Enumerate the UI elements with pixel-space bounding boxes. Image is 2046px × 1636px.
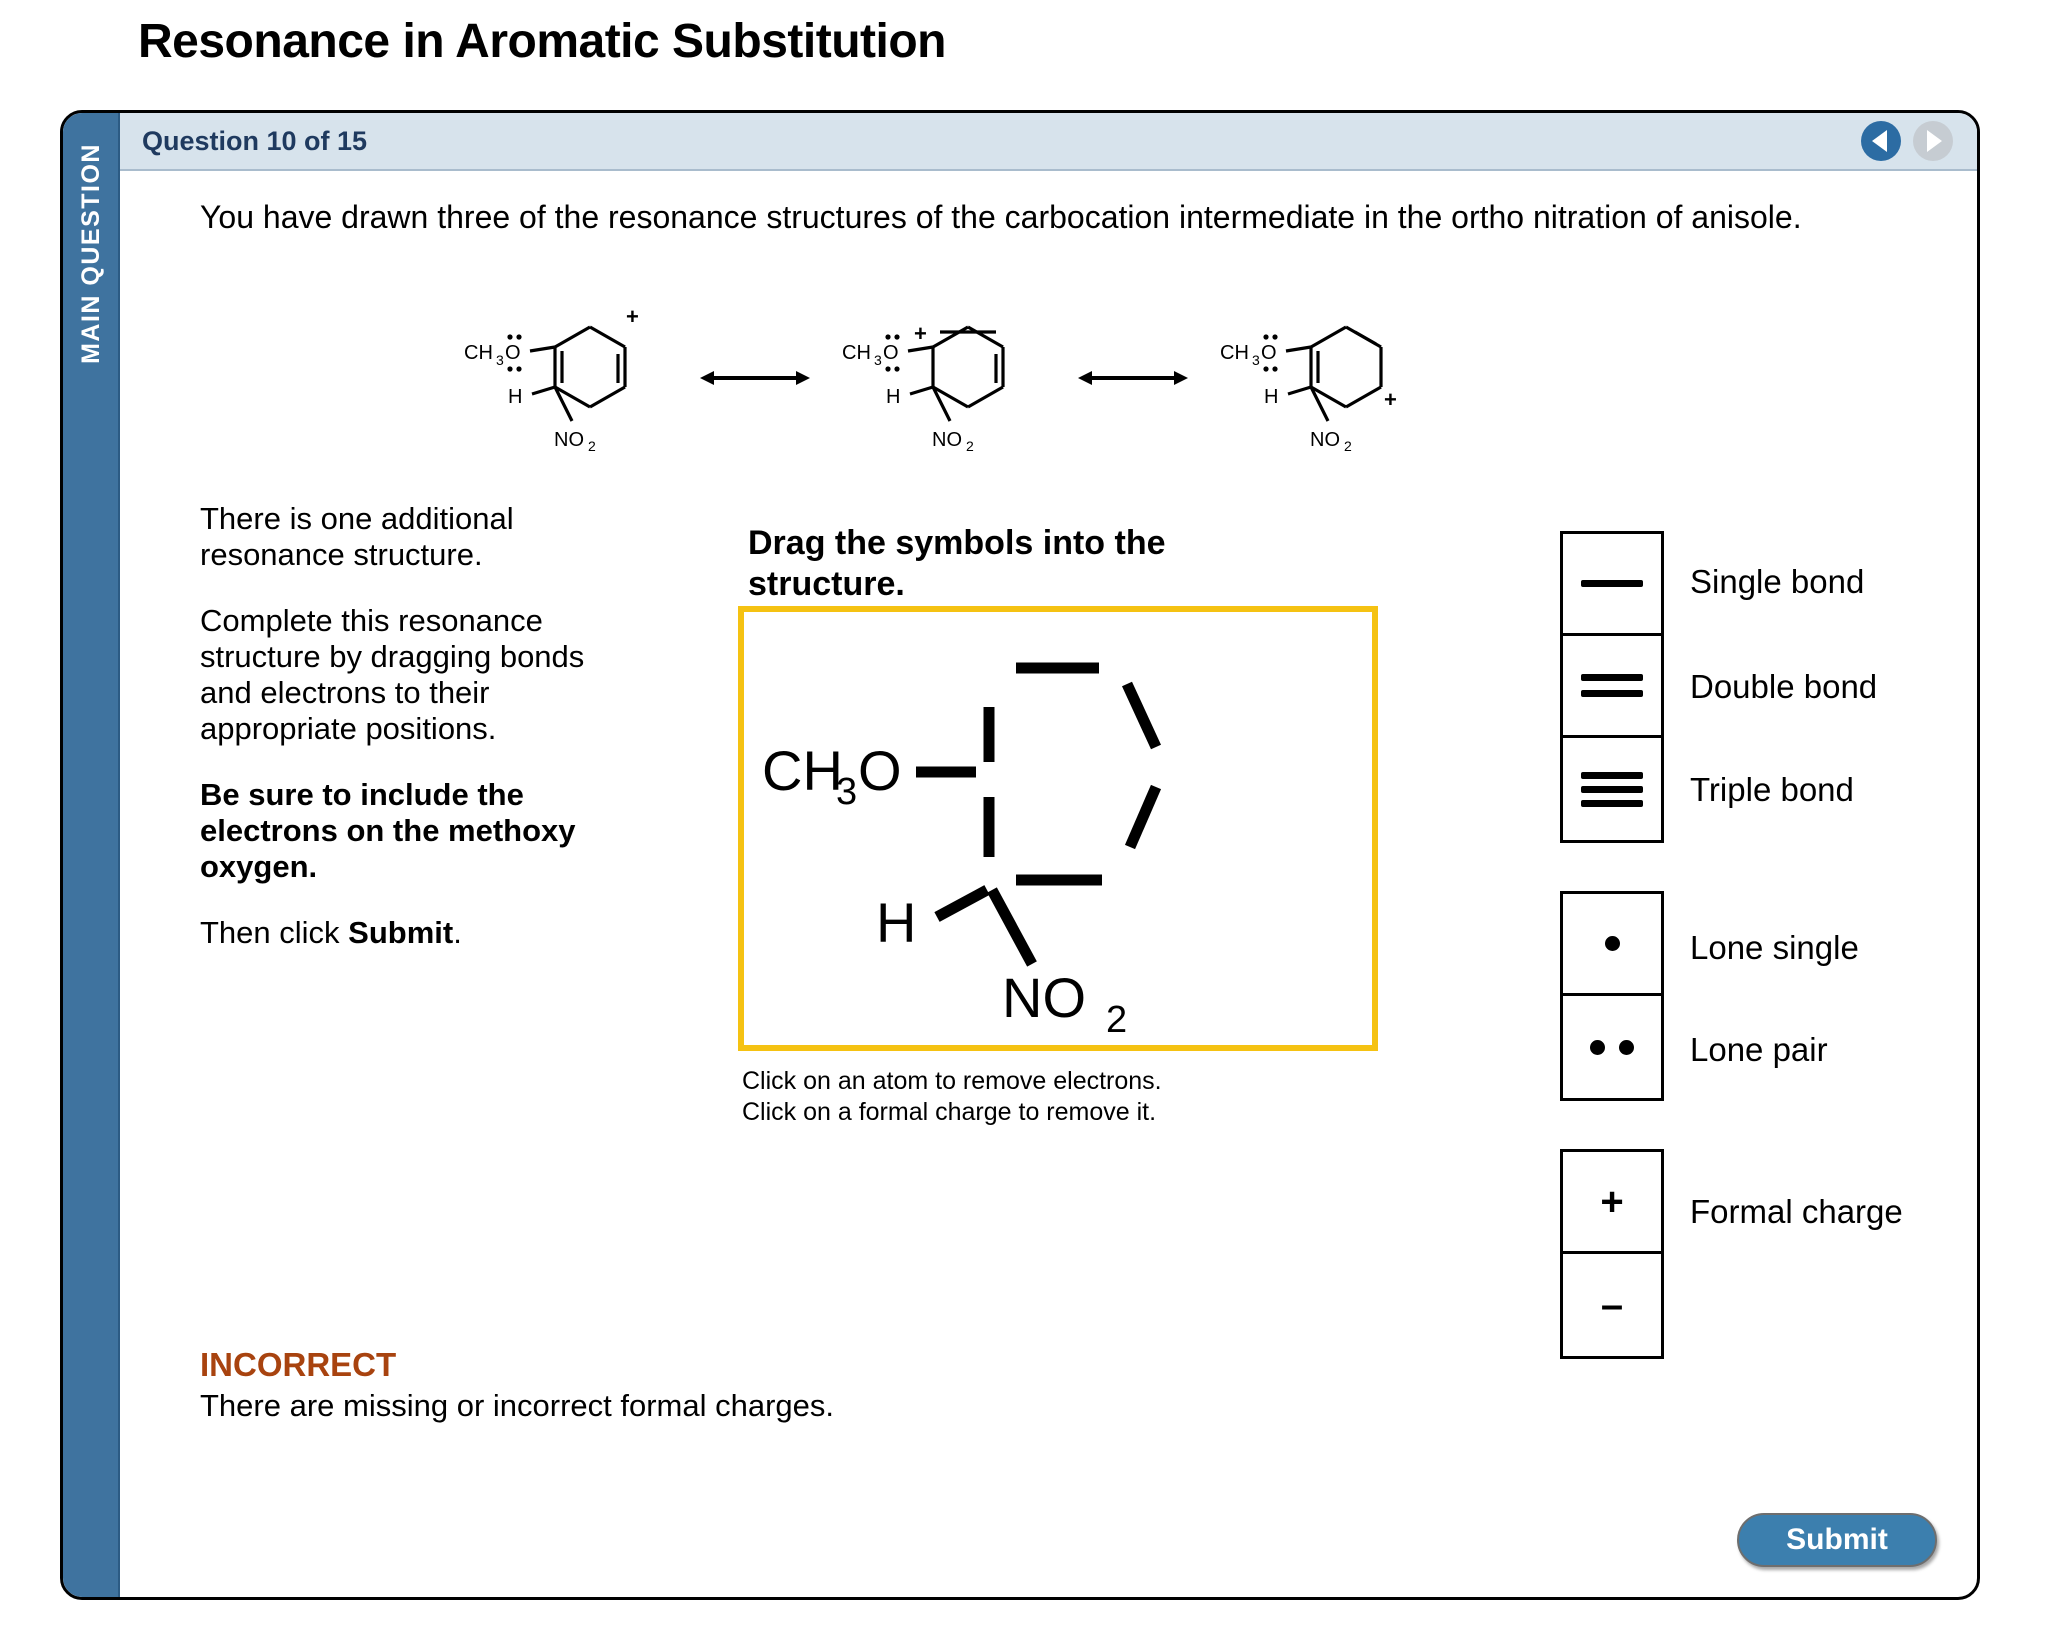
instruction-line-4-suffix: . [453, 915, 462, 950]
submit-button[interactable]: Submit [1737, 1513, 1937, 1567]
question-prompt: You have drawn three of the resonance st… [200, 199, 1910, 236]
drag-instruction-heading: Drag the symbols into the structure. [748, 523, 1218, 605]
label-single-bond: Single bond [1690, 563, 1864, 601]
palette-negative-charge[interactable]: – [1563, 1254, 1661, 1356]
svg-text:H: H [886, 386, 900, 408]
instruction-line-4: Then click Submit. [200, 915, 640, 951]
status-badge: INCORRECT [200, 1346, 1020, 1384]
svg-text:CH: CH [1220, 342, 1249, 364]
instruction-line-4-prefix: Then click [200, 915, 348, 950]
resonance-structure-2: CH 3 O H NO 2 + [828, 299, 1078, 459]
next-question-button[interactable] [1913, 121, 1953, 161]
svg-text:3: 3 [874, 352, 882, 368]
instruction-column: There is one additional resonance struct… [200, 501, 640, 981]
previous-question-button[interactable] [1861, 121, 1901, 161]
svg-text:H: H [508, 386, 522, 408]
main-question-rail: MAIN QUESTION [63, 113, 120, 1597]
svg-text:2: 2 [1106, 999, 1127, 1041]
palette-positive-charge[interactable]: + [1563, 1152, 1661, 1254]
instruction-line-1: There is one additional resonance struct… [200, 501, 640, 573]
instruction-line-2: Complete this resonance structure by dra… [200, 603, 640, 747]
question-nav-group [1861, 121, 1953, 161]
svg-text:+: + [626, 304, 639, 329]
palette-single-bond[interactable] [1563, 534, 1661, 636]
bond-palette-group [1560, 531, 1664, 843]
label-lone-pair: Lone pair [1690, 1031, 1828, 1069]
svg-text:2: 2 [1344, 438, 1352, 454]
resonance-structures-strip: CH 3 O H NO 2 + [450, 299, 1610, 459]
plus-icon: + [1600, 1182, 1623, 1222]
resonance-arrow-2 [1078, 365, 1188, 391]
svg-text:NO: NO [554, 429, 584, 451]
svg-text:O: O [883, 342, 899, 364]
resonance-structure-1-svg: CH 3 O H NO 2 + [450, 299, 700, 459]
feedback-block: INCORRECT There are missing or incorrect… [200, 1346, 1020, 1424]
drop-zone-hints: Click on an atom to remove electrons. Cl… [742, 1066, 1162, 1129]
work-structure-svg[interactable]: CH 3 O H NO 2 [744, 612, 1378, 1045]
question-header-bar: Question 10 of 15 [120, 113, 1977, 171]
question-panel: MAIN QUESTION Question 10 of 15 You have… [60, 110, 1980, 1600]
svg-text:2: 2 [588, 438, 596, 454]
svg-text:O: O [1261, 342, 1277, 364]
hint-remove-electrons: Click on an atom to remove electrons. [742, 1066, 1162, 1097]
resonance-structure-2-svg: CH 3 O H NO 2 + [828, 299, 1078, 459]
resonance-structure-3: CH 3 O H NO 2 + [1206, 299, 1456, 459]
rail-label-wrap: MAIN QUESTION [63, 143, 120, 473]
triangle-right-icon [1927, 130, 1942, 152]
electron-palette-group [1560, 891, 1664, 1101]
charge-palette-group: + – [1560, 1149, 1664, 1359]
single-bond-icon [1581, 580, 1643, 587]
label-formal-charge: Formal charge [1690, 1193, 1903, 1231]
palette-double-bond[interactable] [1563, 636, 1661, 738]
lone-pair-icon [1590, 1040, 1634, 1055]
svg-text:3: 3 [1252, 352, 1260, 368]
double-bond-icon [1581, 674, 1643, 697]
svg-text:H: H [1264, 386, 1278, 408]
symbol-palette: Single bond Double bond Triple bond Lone… [1560, 531, 1980, 1359]
page-title: Resonance in Aromatic Substitution [138, 14, 946, 69]
label-double-bond: Double bond [1690, 668, 1877, 706]
label-triple-bond: Triple bond [1690, 771, 1854, 809]
lone-single-electron-icon [1605, 936, 1620, 951]
svg-text:CH: CH [842, 342, 871, 364]
svg-text:2: 2 [966, 438, 974, 454]
resonance-structure-1: CH 3 O H NO 2 + [450, 299, 700, 459]
question-counter: Question 10 of 15 [142, 126, 367, 157]
instruction-line-3: Be sure to include the electrons on the … [200, 777, 640, 885]
svg-text:NO: NO [1002, 966, 1086, 1029]
hint-remove-charge: Click on a formal charge to remove it. [742, 1097, 1162, 1128]
structure-drop-zone[interactable]: CH 3 O H NO 2 [738, 606, 1378, 1051]
resonance-arrow-1 [700, 365, 810, 391]
svg-text:CH: CH [762, 739, 843, 802]
svg-text:NO: NO [932, 429, 962, 451]
label-lone-single: Lone single [1690, 929, 1859, 967]
feedback-message: There are missing or incorrect formal ch… [200, 1388, 1020, 1424]
palette-lone-pair[interactable] [1563, 996, 1661, 1098]
palette-triple-bond[interactable] [1563, 738, 1661, 840]
svg-text:+: + [1384, 387, 1397, 412]
instruction-line-4-bold: Submit [348, 915, 453, 950]
palette-lone-single[interactable] [1563, 894, 1661, 996]
svg-text:+: + [914, 321, 927, 346]
svg-text:NO: NO [1310, 429, 1340, 451]
rail-label: MAIN QUESTION [77, 143, 106, 364]
minus-icon: – [1601, 1285, 1623, 1325]
question-content: You have drawn three of the resonance st… [120, 171, 1977, 1597]
triple-bond-icon [1581, 772, 1643, 807]
svg-text:3: 3 [836, 771, 857, 813]
svg-text:O: O [858, 739, 902, 802]
svg-text:CH: CH [464, 342, 493, 364]
svg-text:3: 3 [496, 352, 504, 368]
triangle-left-icon [1872, 130, 1887, 152]
resonance-structure-3-svg: CH 3 O H NO 2 + [1206, 299, 1456, 459]
svg-text:O: O [505, 342, 521, 364]
svg-text:H: H [876, 891, 916, 954]
